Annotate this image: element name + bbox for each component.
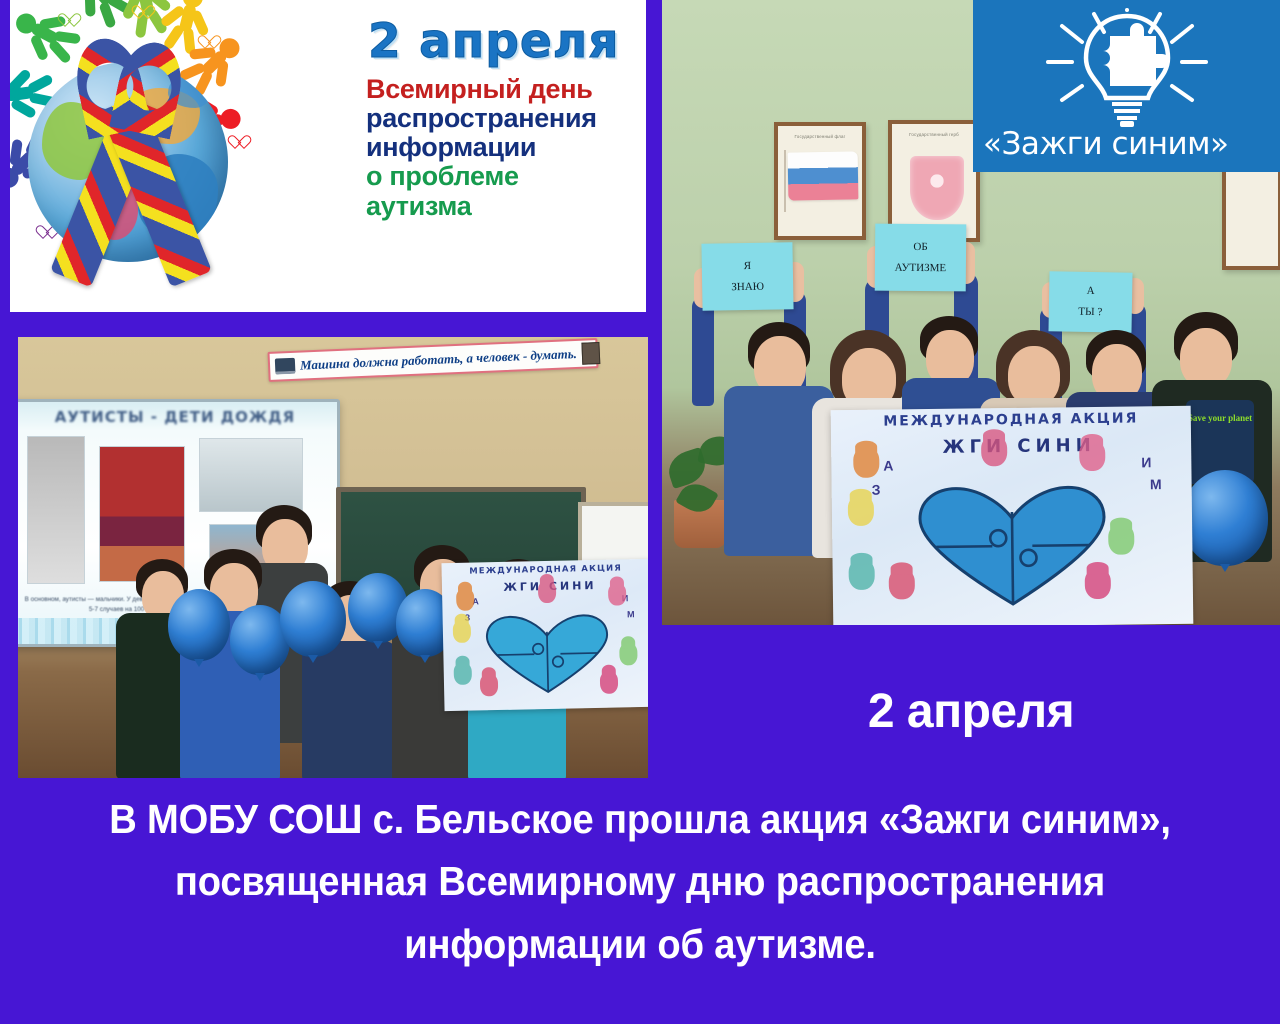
awareness-text-block: 2 апреля Всемирный день распространения … [362, 0, 646, 312]
frame-caption-flag: Государственный флаг [778, 134, 862, 139]
frame-caption-emblem: Государственный герб [892, 132, 976, 137]
photo-students-with-balloons: Машина должна работать, а человек - дума… [18, 337, 648, 778]
awareness-line-5: аутизма [366, 192, 636, 221]
sign-1-line-1: Я [743, 256, 751, 277]
blue-balloon [280, 581, 346, 657]
poster-letter-z: З [872, 482, 881, 498]
puzzle-ribbon-icon [62, 38, 212, 288]
screen-title: АУТИСТЫ - ДЕТИ ДОЖДЯ [18, 408, 337, 426]
awareness-line-1: Всемирный день [366, 75, 636, 104]
awareness-date: 2 апреля [368, 18, 636, 65]
sign-3-line-1: А [1087, 281, 1095, 302]
classroom-wall-banner: Машина должна работать, а человек - дума… [268, 338, 599, 382]
poster-subtitle: ЖГИ СИНИ [877, 434, 1161, 458]
tshirt-text: Save your planet [1186, 414, 1254, 424]
poster-letter-m: М [1150, 476, 1162, 492]
sign-2-line-1: ОБ [913, 237, 927, 258]
lightbulb-puzzle-icon [1032, 8, 1222, 133]
poster-letter-a: А [883, 457, 893, 473]
blue-balloon [168, 589, 230, 661]
wall-banner-text: Машина должна работать, а человек - дума… [300, 346, 577, 374]
russian-emblem-icon [910, 156, 964, 220]
blue-balloon [1182, 470, 1268, 566]
held-sign-1: Я ЗНАЮ [701, 242, 793, 311]
puzzle-heart-icon [914, 483, 1112, 609]
poster-title: МЕЖДУНАРОДНАЯ АКЦИЯ [831, 410, 1191, 430]
page-headline: 2 апреля [662, 684, 1280, 739]
sign-2-line-2: АУТИЗМЕ [895, 257, 947, 278]
puzzle-heart-icon [483, 610, 613, 699]
campaign-poster-left: МЕЖДУНАРОДНАЯ АКЦИЯ ЖГИ СИНИ А З И М [441, 559, 648, 711]
held-sign-2: ОБ АУТИЗМЕ [875, 224, 967, 292]
awareness-line-4: о проблеме [366, 162, 636, 191]
wall-frame-flag: Государственный флаг [774, 122, 866, 240]
light-it-up-blue-banner: «Зажги синим» [973, 0, 1280, 172]
poster-letter-i: И [1141, 454, 1151, 470]
sign-1-line-2: ЗНАЮ [731, 276, 764, 297]
banner-text: «Зажги синим» [983, 126, 1280, 162]
campaign-poster-right: МЕЖДУНАРОДНАЯ АКЦИЯ ЖГИ СИНИ А З И М [831, 406, 1194, 625]
russian-flag-icon [788, 151, 859, 200]
portrait-icon [581, 342, 600, 365]
awareness-illustration [10, 0, 360, 312]
sign-3-line-2: ТЫ ? [1078, 302, 1102, 323]
awareness-line-2: распространения [366, 104, 636, 133]
page-caption: В МОБУ СОШ с. Бельское прошла акция «Заж… [93, 788, 1187, 975]
poster-root: 2 апреля Всемирный день распространения … [0, 0, 1280, 1024]
awareness-line-3: информации [366, 133, 636, 162]
poster-letter-m: М [627, 609, 635, 619]
held-sign-3: А ТЫ ? [1048, 271, 1132, 332]
awareness-day-card: 2 апреля Всемирный день распространения … [10, 0, 646, 312]
computer-icon [275, 358, 296, 375]
